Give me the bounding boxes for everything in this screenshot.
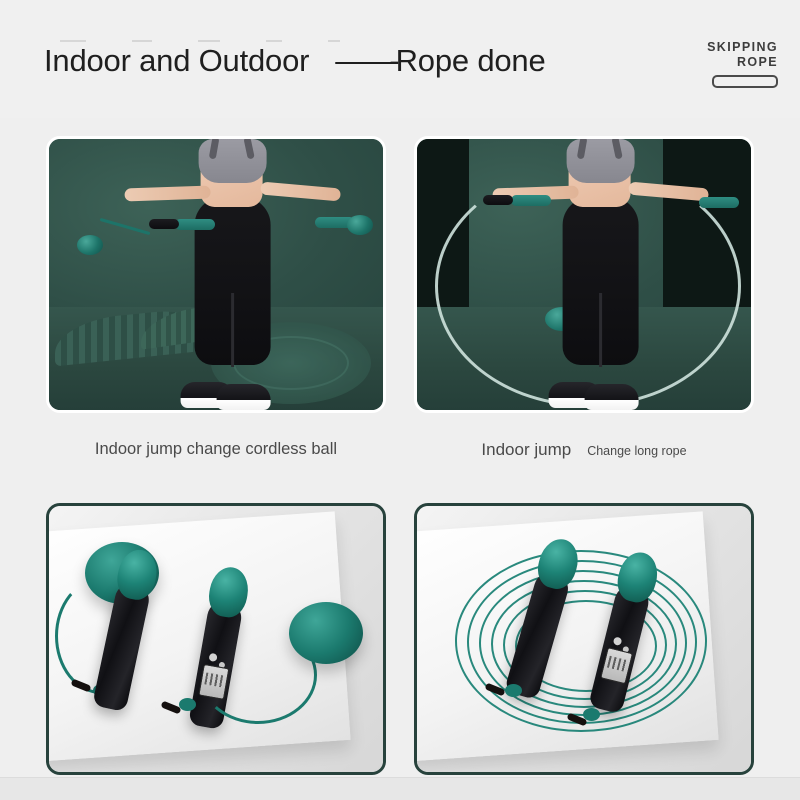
digital-counter-display — [600, 647, 633, 684]
handle-left — [175, 219, 215, 230]
counter-buttons[interactable] — [613, 636, 623, 646]
page-title-separator: ——- — [335, 42, 395, 80]
bottom-strip — [0, 777, 800, 800]
shoe-right — [217, 384, 271, 410]
leggings — [563, 197, 639, 365]
studio-scene — [49, 139, 383, 410]
photo-long-rope-demo[interactable] — [414, 136, 754, 413]
weighted-ball-right — [347, 215, 373, 235]
product-backdrop — [49, 506, 383, 772]
arm-right — [260, 182, 341, 202]
product-page: Indoor and Outdoor——-Rope done SKIPPING … — [0, 0, 800, 800]
brand-logo-line1: SKIPPING — [668, 40, 778, 55]
rope-knot-left — [505, 684, 522, 697]
photo-cordless-ball-demo[interactable] — [46, 136, 386, 413]
caption-row: Indoor jump change cordless ball Indoor … — [0, 440, 800, 484]
person-jumping — [513, 139, 683, 410]
handle-left-body — [483, 195, 513, 205]
caption-cordless-ball: Indoor jump change cordless ball — [46, 440, 386, 459]
brand-logo-line2: ROPE — [668, 55, 778, 70]
ball-cord-left — [100, 218, 151, 235]
weighted-ball-right — [289, 602, 363, 664]
sports-bra — [199, 139, 267, 183]
caption-long-rope: Indoor jumpChange long rope — [414, 440, 754, 460]
cord-knot-right — [179, 698, 196, 711]
sports-bra — [567, 139, 635, 183]
brand-logo: SKIPPING ROPE — [668, 40, 778, 88]
caption-long-rope-strong: Indoor jump — [481, 440, 571, 459]
caption-long-rope-small: Change long rope — [587, 444, 686, 458]
product-long-rope[interactable] — [414, 503, 754, 775]
leg-separation — [231, 293, 234, 367]
shoe-right — [585, 384, 639, 410]
handle-left — [511, 195, 551, 206]
leg-separation — [599, 293, 602, 367]
product-cordless-ball[interactable] — [46, 503, 386, 775]
arm-left — [124, 186, 210, 202]
product-backdrop — [417, 506, 751, 772]
page-title-sub: Rope done — [396, 43, 546, 78]
person-jumping — [145, 139, 315, 410]
studio-scene — [417, 139, 751, 410]
weighted-ball-left — [77, 235, 103, 255]
page-title-main: Indoor and Outdoor — [44, 43, 309, 78]
rope-mark-icon — [712, 75, 778, 88]
page-header: Indoor and Outdoor——-Rope done SKIPPING … — [0, 0, 800, 118]
handle-right — [699, 197, 739, 208]
page-title: Indoor and Outdoor——-Rope done — [44, 42, 545, 80]
handle-left-body — [149, 219, 179, 229]
